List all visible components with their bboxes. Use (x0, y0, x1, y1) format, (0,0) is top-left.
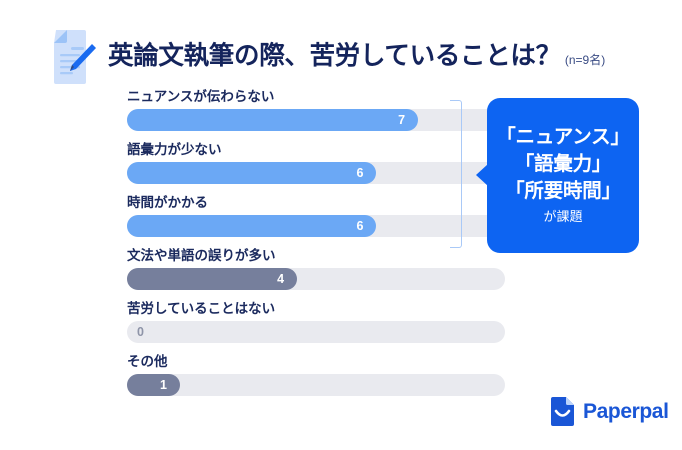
chart-row: 苦労していることはない 0 (127, 300, 507, 343)
group-bracket (450, 100, 462, 248)
bar-fill: 6 (127, 215, 376, 237)
callout-box: 「ニュアンス」 「語彙力」 「所要時間」 が課題 (487, 98, 639, 253)
chart-row: 文法や単語の誤りが多い 4 (127, 247, 507, 290)
bar-fill: 6 (127, 162, 376, 184)
bar-fill: 7 (127, 109, 418, 131)
bar-value: 6 (357, 162, 364, 184)
bar-track: 6 (127, 215, 505, 237)
chart-header: 英論文執筆の際、苦労していることは？(n=9名) (42, 26, 605, 88)
page-title: 英論文執筆の際、苦労していることは？(n=9名) (108, 44, 605, 70)
bar-track: 0 (127, 321, 505, 343)
page-title-text: 英論文執筆の際、苦労していることは？ (108, 42, 561, 70)
bar-track: 6 (127, 162, 505, 184)
survey-chart-card: 英論文執筆の際、苦労していることは？(n=9名) ニュアンスが伝わらない 7 語… (0, 0, 682, 450)
paperpal-logo-text: Paperpal (583, 401, 669, 422)
bar-value: 4 (277, 268, 284, 290)
chart-row: その他 1 (127, 353, 507, 396)
bar-track: 7 (127, 109, 505, 131)
bar-value: 0 (137, 321, 144, 343)
bar-value: 6 (357, 215, 364, 237)
bar-fill: 1 (127, 374, 180, 396)
callout-line-1: 「ニュアンス」 (496, 124, 630, 151)
paperpal-smile-doc-icon (549, 396, 576, 427)
bar-value: 1 (160, 374, 167, 396)
callout-subtext: が課題 (543, 206, 582, 228)
callout-line-3: 「所要時間」 (505, 178, 621, 205)
bar-track: 4 (127, 268, 505, 290)
bar-label: その他 (127, 353, 507, 371)
callout-line-2: 「語彙力」 (515, 151, 612, 178)
bar-value: 7 (398, 109, 405, 131)
sample-size-note: (n=9名) (565, 53, 605, 67)
bar-label: 文法や単語の誤りが多い (127, 247, 507, 265)
bar-label: 苦労していることはない (127, 300, 507, 318)
bar-track: 1 (127, 374, 505, 396)
paperpal-logo: Paperpal (549, 396, 669, 427)
bar-fill: 4 (127, 268, 297, 290)
document-pen-icon (42, 26, 98, 88)
